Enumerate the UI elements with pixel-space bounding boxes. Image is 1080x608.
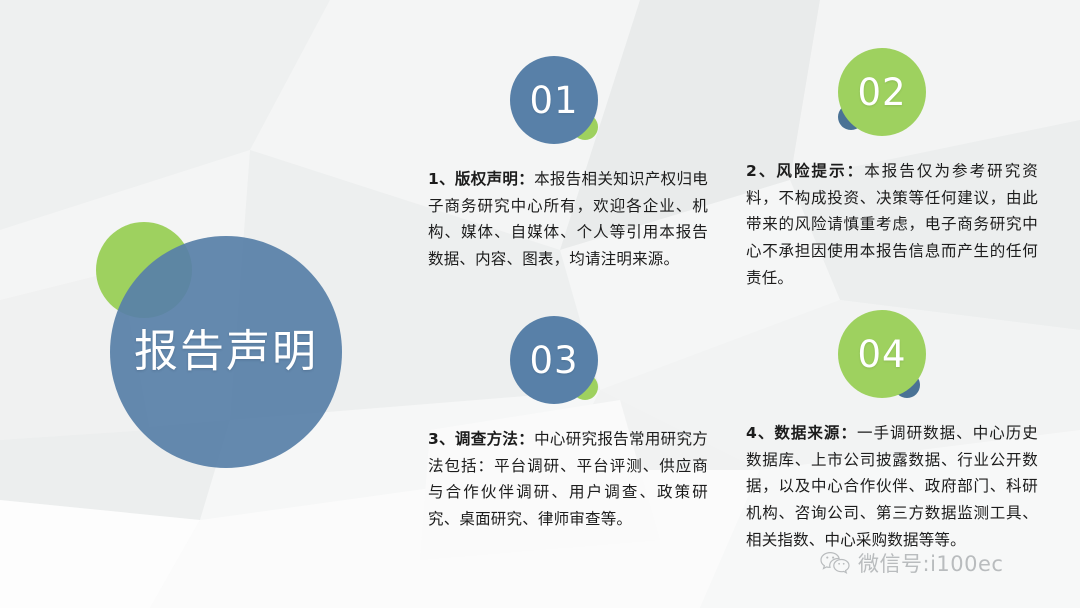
item-lead-04: 4、数据来源： <box>746 424 857 442</box>
item-text-02: 本报告仅为参考研究资料，不构成投资、决策等任何建议，由此带来的风险请慎重考虑，电… <box>746 162 1038 287</box>
number-badge-01: 01 <box>510 56 598 144</box>
declaration-item-02: 02 2、风险提示：本报告仅为参考研究资料，不构成投资、决策等任何建议，由此带来… <box>746 48 1038 291</box>
watermark-text: 微信号:i100ec <box>858 548 1003 578</box>
item-text-04: 一手调研数据、中心历史数据库、上市公司披露数据、行业公开数据，以及中心合作伙伴、… <box>746 424 1038 549</box>
number-badge-03: 03 <box>510 316 598 404</box>
item-body-04: 4、数据来源：一手调研数据、中心历史数据库、上市公司披露数据、行业公开数据，以及… <box>746 420 1038 553</box>
badge-wrap-03: 03 <box>510 316 598 404</box>
badge-wrap-04: 04 <box>838 310 926 398</box>
hero-title-cluster: 报告声明 <box>96 222 356 444</box>
item-lead-03: 3、调查方法： <box>428 430 534 448</box>
item-lead-01: 1、版权声明： <box>428 170 534 188</box>
badge-wrap-01: 01 <box>510 56 598 144</box>
item-lead-02: 2、风险提示： <box>746 162 864 180</box>
slide-canvas: 报告声明 01 1、版权声明：本报告相关知识产权归电子商务研究中心所有，欢迎各企… <box>0 0 1080 608</box>
number-badge-04: 04 <box>838 310 926 398</box>
page-title: 报告声明 <box>110 236 342 468</box>
badge-wrap-02: 02 <box>838 48 926 136</box>
number-badge-02: 02 <box>838 48 926 136</box>
item-body-02: 2、风险提示：本报告仅为参考研究资料，不构成投资、决策等任何建议，由此带来的风险… <box>746 158 1038 291</box>
declaration-item-04: 04 4、数据来源：一手调研数据、中心历史数据库、上市公司披露数据、行业公开数据… <box>746 310 1038 553</box>
declaration-item-03: 03 3、调查方法：中心研究报告常用研究方法包括：平台调研、平台评测、供应商与合… <box>428 316 708 533</box>
watermark: 微信号:i100ec <box>820 548 1003 578</box>
item-body-01: 1、版权声明：本报告相关知识产权归电子商务研究中心所有，欢迎各企业、机构、媒体、… <box>428 166 708 273</box>
item-body-03: 3、调查方法：中心研究报告常用研究方法包括：平台调研、平台评测、供应商与合作伙伴… <box>428 426 708 533</box>
declaration-item-01: 01 1、版权声明：本报告相关知识产权归电子商务研究中心所有，欢迎各企业、机构、… <box>428 56 708 273</box>
wechat-icon <box>820 551 850 575</box>
